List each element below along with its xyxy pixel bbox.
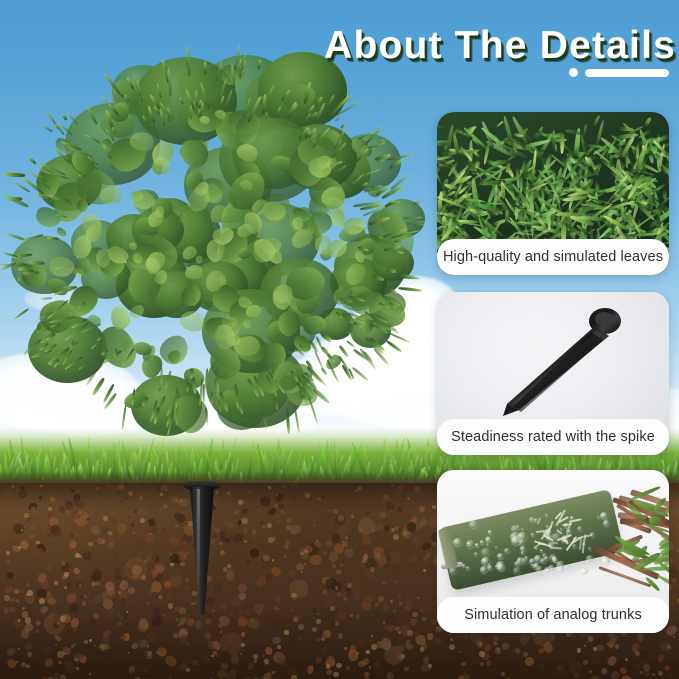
spike-illustration bbox=[491, 306, 623, 418]
water-droplet bbox=[576, 525, 583, 531]
card-caption: Simulation of analog trunks bbox=[437, 597, 669, 633]
card-caption: High-quality and simulated leaves bbox=[437, 239, 669, 275]
foliage-needle bbox=[190, 369, 194, 379]
water-droplet bbox=[479, 539, 484, 544]
foliage-needle bbox=[47, 236, 59, 240]
foliage-needle bbox=[314, 350, 324, 369]
foliage-highlight bbox=[185, 264, 203, 279]
shrub-canopy bbox=[8, 62, 416, 422]
leaf-needle-bright bbox=[442, 216, 447, 226]
foliage-highlight bbox=[111, 306, 131, 330]
trunk-leaf bbox=[648, 516, 661, 524]
foliage-needle bbox=[28, 156, 37, 165]
foliage-needle bbox=[402, 276, 420, 279]
trunk-leaf bbox=[667, 485, 669, 507]
leaf-needle bbox=[643, 117, 652, 128]
leaf-needle bbox=[592, 115, 600, 128]
card-caption: Steadiness rated with the spike bbox=[437, 419, 669, 455]
leaf-needle bbox=[437, 124, 447, 130]
foliage-needle bbox=[386, 340, 403, 353]
foliage-highlight bbox=[99, 185, 123, 205]
product-detail-poster: About The Details High-quality and simul… bbox=[0, 0, 679, 679]
foliage-needle bbox=[61, 114, 67, 122]
water-droplet bbox=[580, 567, 589, 576]
leaf-needle bbox=[615, 132, 638, 139]
title-underline bbox=[569, 68, 669, 77]
water-droplet bbox=[520, 527, 524, 531]
foliage-needle bbox=[92, 378, 105, 396]
foliage-needle bbox=[121, 406, 126, 430]
foliage-needle bbox=[389, 332, 410, 343]
trunk-segment bbox=[438, 489, 624, 591]
foliage-needle bbox=[40, 124, 53, 132]
water-droplet bbox=[602, 519, 610, 526]
water-droplet bbox=[495, 564, 499, 567]
artificial-shrub bbox=[8, 62, 416, 462]
leaf-needle bbox=[552, 130, 556, 152]
foliage-needle bbox=[3, 193, 29, 208]
leaf-needle-bright bbox=[555, 212, 577, 217]
foliage-highlight bbox=[292, 216, 304, 230]
leaf-needle bbox=[495, 121, 504, 129]
detail-card-spike[interactable]: Steadiness rated with the spike bbox=[437, 292, 669, 455]
water-droplet bbox=[585, 554, 595, 563]
foliage-needle bbox=[13, 308, 29, 320]
foliage-needle bbox=[189, 105, 192, 119]
bar-marker-icon bbox=[585, 69, 669, 77]
foliage-needle bbox=[211, 392, 213, 405]
foliage-tuft bbox=[238, 248, 250, 259]
water-droplet bbox=[543, 567, 551, 575]
leaf-needle bbox=[564, 128, 584, 135]
foliage-needle bbox=[320, 346, 329, 356]
leaf-needle-bright bbox=[616, 159, 621, 180]
leaf-needle-bright bbox=[560, 134, 565, 155]
water-droplet bbox=[570, 515, 575, 519]
dot-marker-icon bbox=[569, 68, 578, 77]
leaf-needle-bright bbox=[519, 176, 522, 192]
detail-card-leaves[interactable]: High-quality and simulated leaves bbox=[437, 112, 669, 275]
ground-spike-highlight bbox=[197, 489, 200, 605]
leaf-needle bbox=[582, 124, 587, 139]
page-title: About The Details bbox=[324, 24, 676, 68]
detail-card-trunk[interactable]: Simulation of analog trunks bbox=[437, 470, 669, 633]
ground-spike-product bbox=[491, 306, 623, 418]
foliage-needle bbox=[40, 296, 52, 299]
leaf-needle bbox=[505, 210, 509, 225]
